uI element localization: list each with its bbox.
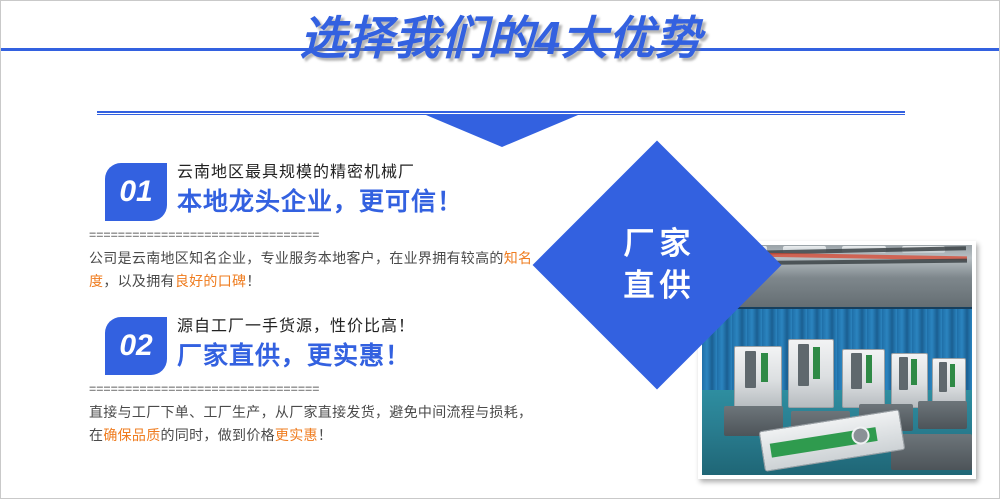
highlighted-text: 确保品质: [103, 427, 160, 443]
highlighted-text: 良好的口碑: [175, 273, 247, 289]
photo-machine: [788, 339, 833, 408]
feature-item-01: 01 云南地区最具规模的精密机械厂 本地龙头企业，更可信！ ==========…: [89, 161, 559, 293]
feature-title: 厂家直供，更实惠！: [177, 340, 557, 372]
body-text: 的同时，做到价格: [161, 427, 275, 443]
body-text: ！: [246, 273, 260, 289]
feature-subtitle: 源自工厂一手货源，性价比高！: [177, 315, 557, 337]
photo-machine: [734, 346, 782, 408]
feature-header: 01 云南地区最具规模的精密机械厂 本地龙头企业，更可信！: [89, 161, 559, 223]
feature-subtitle: 云南地区最具规模的精密机械厂: [177, 161, 557, 183]
feature-text-group: 源自工厂一手货源，性价比高！ 厂家直供，更实惠！: [177, 315, 557, 372]
feature-body: 直接与工厂下单、工厂生产，从厂家直接发货，避免中间流程与损耗，在确保品质的同时，…: [89, 401, 544, 447]
body-text: 公司是云南地区知名企业，专业服务本地客户，在业界拥有较高的: [89, 250, 504, 266]
features-column: 01 云南地区最具规模的精密机械厂 本地龙头企业，更可信！ ==========…: [89, 161, 559, 447]
feature-header: 02 源自工厂一手货源，性价比高！ 厂家直供，更实惠！: [89, 315, 559, 377]
highlighted-text: 更实惠: [275, 427, 318, 443]
equals-divider: ================================: [89, 383, 559, 397]
photo-machine: [891, 353, 928, 408]
feature-number-badge: 01: [105, 163, 167, 221]
feature-item-02: 02 源自工厂一手货源，性价比高！ 厂家直供，更实惠！ ============…: [89, 315, 559, 447]
photo-machine: [842, 349, 885, 409]
body-text: ，以及拥有: [103, 273, 175, 289]
equals-divider: ================================: [89, 229, 559, 243]
feature-title: 本地龙头企业，更可信！: [177, 186, 557, 218]
section-divider-line: [97, 111, 905, 113]
photo-machine-base: [918, 401, 967, 429]
feature-body: 公司是云南地区知名企业，专业服务本地客户，在业界拥有较高的知名度，以及拥有良好的…: [89, 247, 544, 293]
feature-text-group: 云南地区最具规模的精密机械厂 本地龙头企业，更可信！: [177, 161, 557, 218]
chevron-down-icon: [426, 115, 578, 147]
body-text: ！: [318, 427, 332, 443]
page-title: 选择我们的4大优势: [1, 10, 1000, 66]
feature-number-badge: 02: [105, 317, 167, 375]
promo-banner: 选择我们的4大优势 01 云南地区最具规模的精密机械厂 本地龙头企业，更可信！ …: [0, 0, 1000, 499]
